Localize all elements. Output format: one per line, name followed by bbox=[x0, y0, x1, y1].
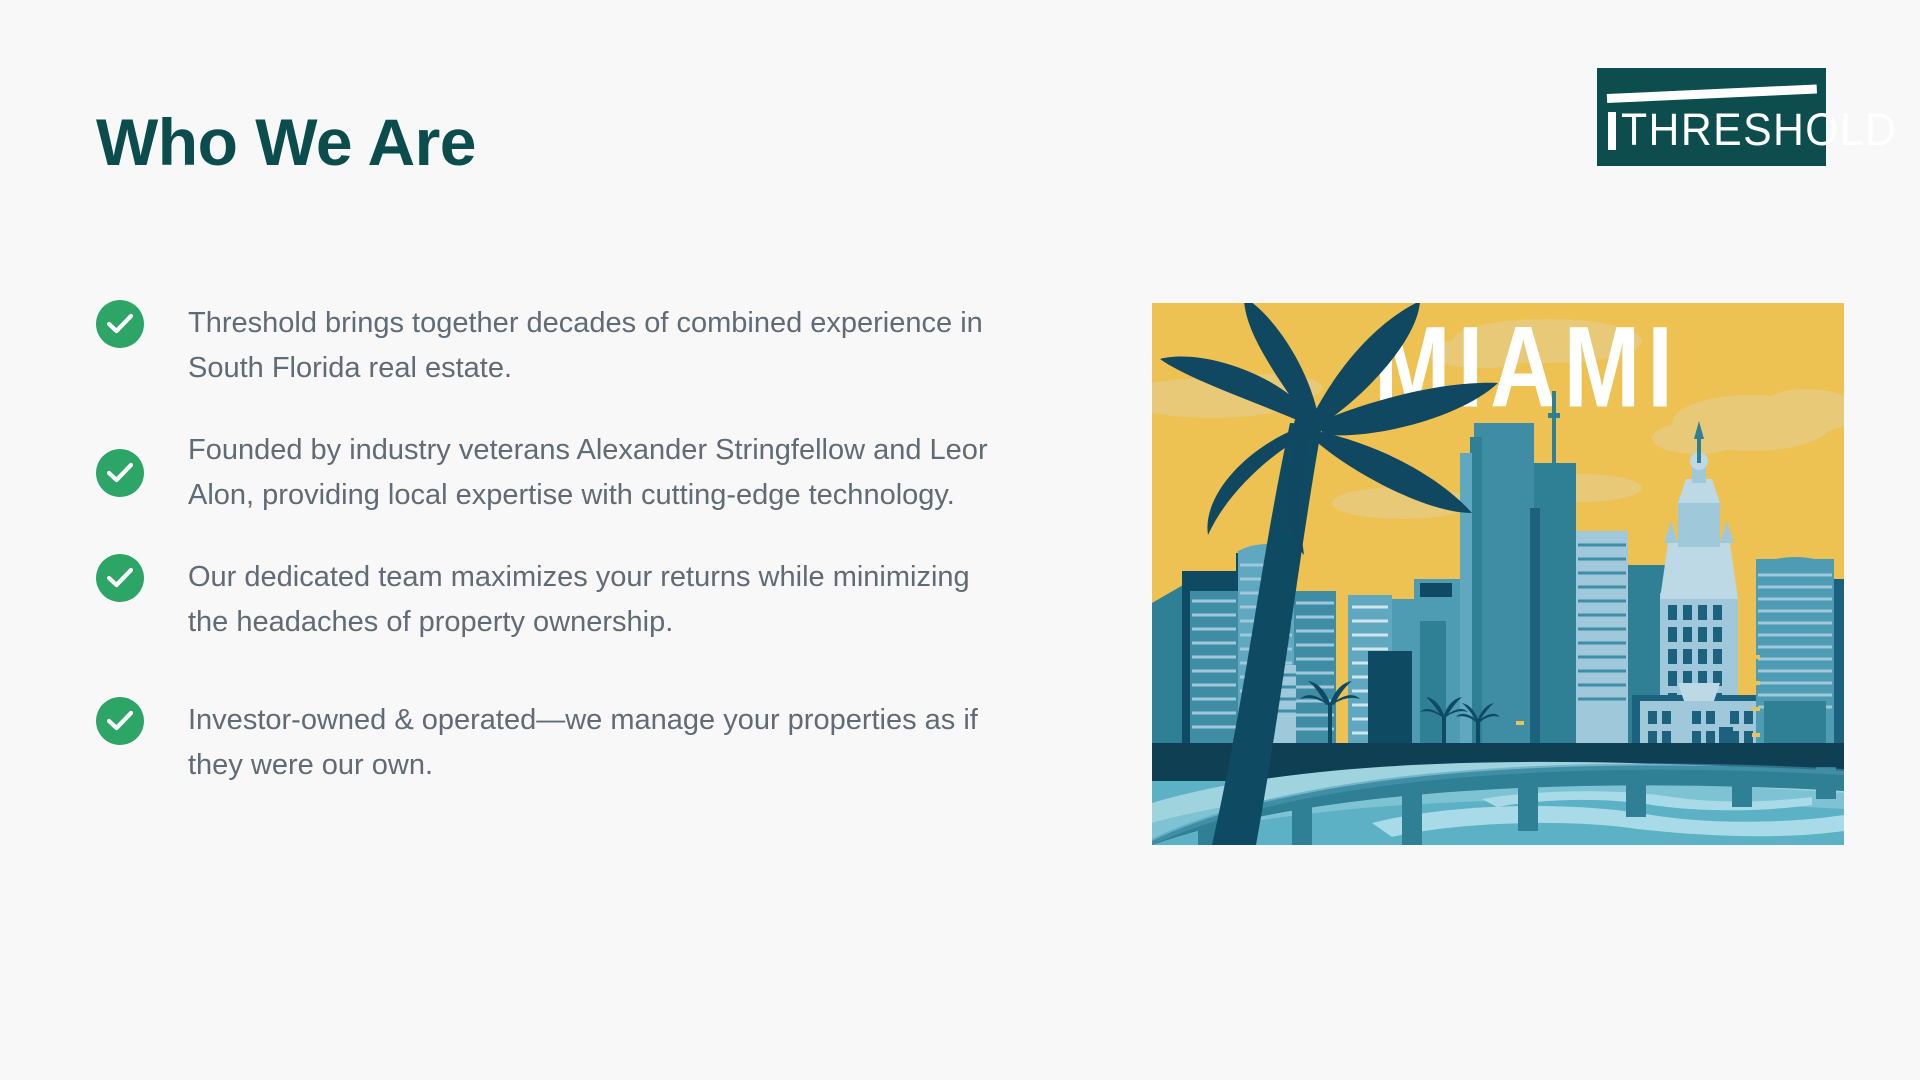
check-circle-icon bbox=[96, 449, 144, 497]
page-title: Who We Are bbox=[96, 108, 476, 177]
list-item-text: Founded by industry veterans Alexander S… bbox=[188, 427, 988, 518]
list-item: Founded by industry veterans Alexander S… bbox=[96, 427, 1116, 518]
bullet-list: Threshold brings together decades of com… bbox=[96, 300, 1116, 824]
miami-skyline-illustration: MIAMI bbox=[1152, 303, 1844, 845]
threshold-logo: THRESHOLD bbox=[1597, 68, 1826, 166]
list-item: Our dedicated team maximizes your return… bbox=[96, 554, 1116, 645]
list-item-text: Our dedicated team maximizes your return… bbox=[188, 554, 988, 645]
check-circle-icon bbox=[96, 697, 144, 745]
logo-slash-icon bbox=[1607, 84, 1817, 103]
list-item-text: Investor-owned & operated—we manage your… bbox=[188, 697, 988, 788]
list-item-text: Threshold brings together decades of com… bbox=[188, 300, 988, 391]
logo-wordmark: THRESHOLD bbox=[1621, 107, 1897, 152]
list-item: Threshold brings together decades of com… bbox=[96, 300, 1116, 391]
slide-canvas: Who We Are THRESHOLD Threshold brings to… bbox=[0, 0, 1920, 1080]
check-circle-icon bbox=[96, 300, 144, 348]
list-item: Investor-owned & operated—we manage your… bbox=[96, 697, 1116, 788]
logo-t-stem-icon bbox=[1608, 112, 1616, 150]
check-circle-icon bbox=[96, 554, 144, 602]
